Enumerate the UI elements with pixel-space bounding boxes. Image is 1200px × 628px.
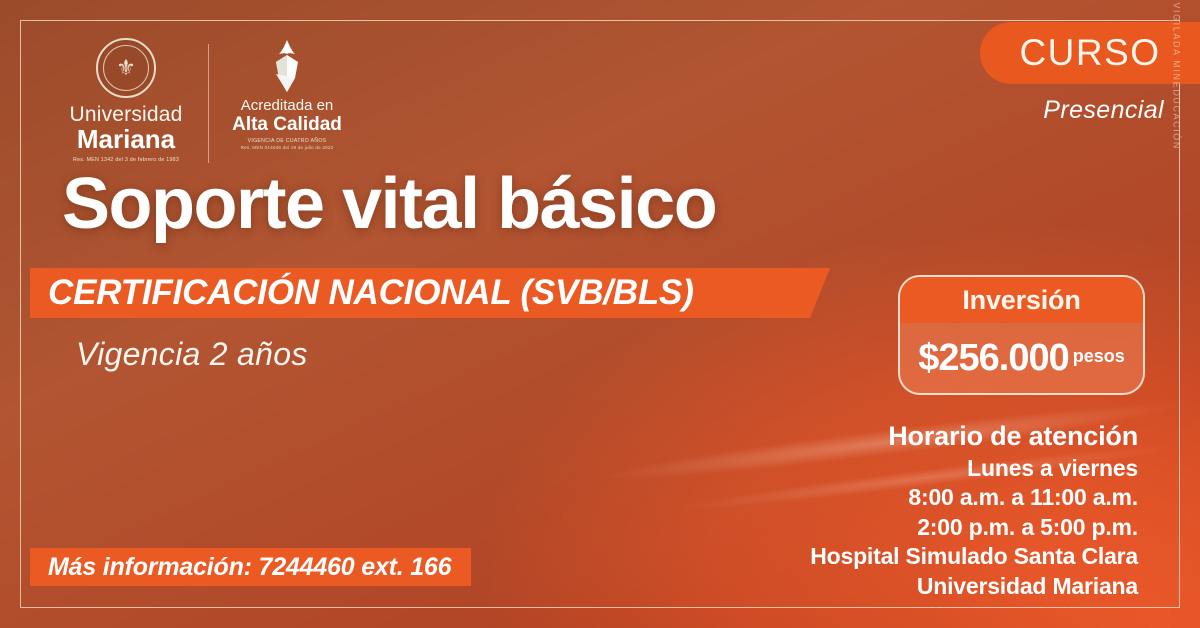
investment-body: $256.000 pesos <box>900 323 1143 393</box>
course-badge-label: CURSO <box>1019 32 1160 74</box>
course-title: Soporte vital básico <box>62 168 716 240</box>
schedule-title: Horario de atención <box>810 420 1138 454</box>
investment-heading: Inversión <box>962 285 1080 316</box>
investment-header: Inversión <box>900 277 1143 323</box>
fleur-de-lis-glyph: ⚜ <box>116 57 136 79</box>
accreditation-validity: VIGENCIA DE CUATRO AÑOS <box>227 138 347 144</box>
contact-bar: Más información: 7244460 ext. 166 <box>30 548 471 586</box>
course-modality: Presencial <box>1043 96 1164 125</box>
logo-group: ⚜ Universidad Mariana Res. MEN 1342 del … <box>62 38 347 163</box>
logo-divider <box>208 44 209 163</box>
course-badge: CURSO <box>980 22 1200 84</box>
university-name-line1: Universidad <box>62 104 190 126</box>
university-name-line2: Mariana <box>62 126 190 153</box>
accreditation-line1: Acreditada en <box>227 98 347 115</box>
investment-currency: pesos <box>1073 346 1125 370</box>
course-validity: Vigencia 2 años <box>76 336 308 373</box>
certification-label: CERTIFICACIÓN NACIONAL (SVB/BLS) <box>48 273 694 313</box>
schedule-block: Horario de atención Lunes a viernes 8:00… <box>810 420 1138 601</box>
quality-laurel-icon <box>264 38 310 94</box>
university-logo: ⚜ Universidad Mariana Res. MEN 1342 del … <box>62 38 190 163</box>
vigilada-mineducacion-text: VIGILADA MINEDUCACIÓN <box>1172 2 1182 150</box>
accreditation-logo: Acreditada en Alta Calidad VIGENCIA DE C… <box>227 38 347 150</box>
contact-info: Más información: 7244460 ext. 166 <box>48 553 451 582</box>
investment-amount: $256.000 <box>918 337 1069 380</box>
university-resolution: Res. MEN 1342 del 3 de febrero de 1983 <box>62 157 190 163</box>
course-promo-banner: ⚜ Universidad Mariana Res. MEN 1342 del … <box>0 0 1200 628</box>
schedule-line: 8:00 a.m. a 11:00 a.m. <box>810 483 1138 512</box>
schedule-line: Lunes a viernes <box>810 454 1138 483</box>
schedule-line: Universidad Mariana <box>810 572 1138 601</box>
fleur-de-lis-seal-icon: ⚜ <box>96 38 156 98</box>
schedule-line: 2:00 p.m. a 5:00 p.m. <box>810 513 1138 542</box>
accreditation-line2: Alta Calidad <box>227 115 347 136</box>
investment-box: Inversión $256.000 pesos <box>898 275 1145 395</box>
schedule-line: Hospital Simulado Santa Clara <box>810 542 1138 571</box>
certification-bar: CERTIFICACIÓN NACIONAL (SVB/BLS) <box>30 268 830 318</box>
accreditation-resolution: Res. MEN 014046 del 19 de julio de 2022 <box>227 145 347 150</box>
